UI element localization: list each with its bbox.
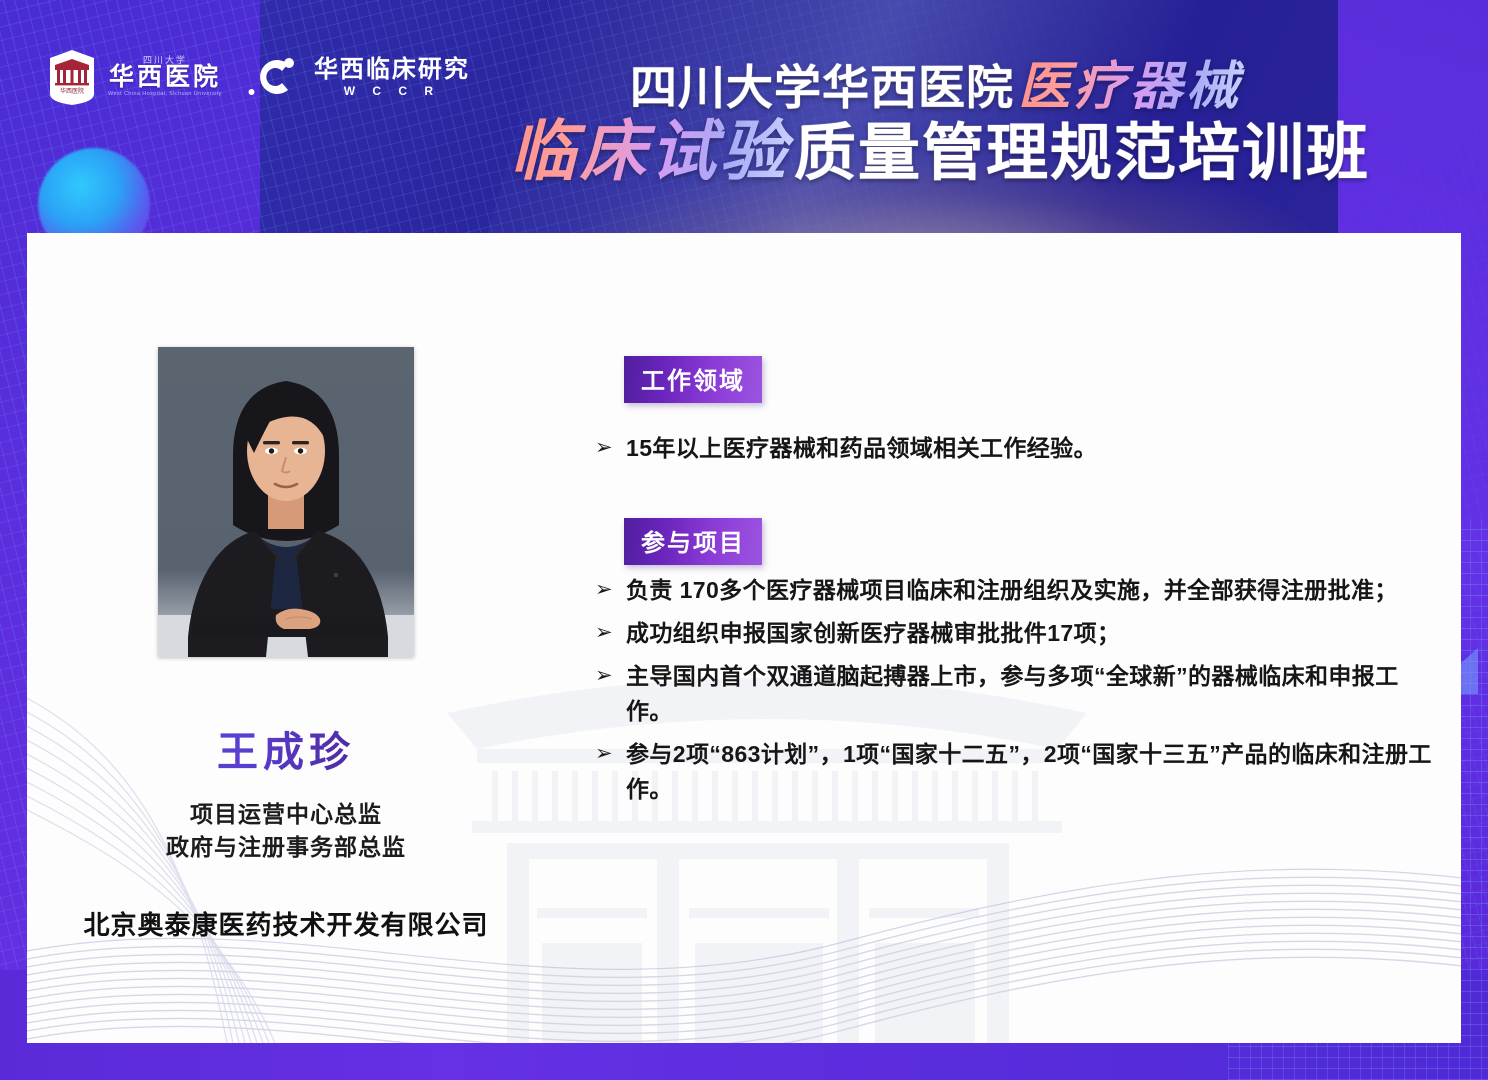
speaker-portrait-illustration	[158, 347, 414, 657]
speaker-photo	[158, 347, 414, 657]
speaker-company: 北京奥泰康医药技术开发有限公司	[48, 905, 524, 942]
event-title-line-2: 临床试验质量管理规范培训班	[418, 116, 1458, 188]
bullet-text: 主导国内首个双通道脑起搏器上市，参与多项“全球新”的器械临床和申报工作。	[626, 659, 1440, 729]
logo-group: 华西医院 四川大学 华西医院 West China Hospital, Sich…	[46, 48, 470, 106]
list-item: ➢ 参与2项“863计划”，1项“国家十二五”，2项“国家十三五”产品的临床和注…	[595, 737, 1440, 807]
list-item: ➢ 15年以上医疗器械和药品领域相关工作经验。	[595, 431, 1435, 466]
bullet-text: 参与2项“863计划”，1项“国家十二五”，2项“国家十三五”产品的临床和注册工…	[626, 737, 1440, 807]
section-badge-projects: 参与项目	[624, 518, 762, 565]
arrow-bullet-icon: ➢	[595, 432, 613, 464]
speaker-details: 工作领域 ➢ 15年以上医疗器械和药品领域相关工作经验。 参与项目 ➢ 负责 1…	[567, 233, 1447, 1043]
work-area-bullet-list: ➢ 15年以上医疗器械和药品领域相关工作经验。	[595, 431, 1435, 466]
logo-hospital-english: West China Hospital, Sichuan University	[108, 92, 222, 98]
wccr-c-mark-icon	[248, 50, 302, 104]
event-title: 四川大学华西医院医疗器械 临床试验质量管理规范培训班	[418, 60, 1458, 188]
projects-bullet-list: ➢ 负责 170多个医疗器械项目临床和注册组织及实施，并全部获得注册批准； ➢ …	[595, 573, 1440, 807]
title-line2-brush: 临床试验	[506, 112, 794, 190]
speaker-roles: 项目运营中心总监 政府与注册事务部总监	[58, 798, 514, 863]
temple-gate-crest-icon: 华西医院	[46, 48, 98, 106]
list-item: ➢ 主导国内首个双通道脑起搏器上市，参与多项“全球新”的器械临床和申报工作。	[595, 659, 1440, 729]
event-title-line-1: 四川大学华西医院医疗器械	[418, 60, 1458, 114]
bullet-text: 15年以上医疗器械和药品领域相关工作经验。	[626, 431, 1435, 466]
title-line1-plain: 四川大学华西医院	[630, 61, 1014, 114]
speaker-name: 王成珍	[58, 718, 514, 778]
speaker-role-2: 政府与注册事务部总监	[58, 831, 514, 864]
logo-west-china-hospital-text: 四川大学 华西医院 West China Hospital, Sichuan U…	[108, 56, 222, 98]
bullet-text: 负责 170多个医疗器械项目临床和注册组织及实施，并全部获得注册批准；	[626, 573, 1440, 608]
bullet-text: 成功组织申报国家创新医疗器械审批批件17项；	[626, 616, 1440, 651]
arrow-bullet-icon: ➢	[595, 738, 613, 770]
arrow-bullet-icon: ➢	[595, 660, 613, 692]
speaker-role-1: 项目运营中心总监	[58, 798, 514, 831]
content-card: 王成珍 项目运营中心总监 政府与注册事务部总监 北京奥泰康医药技术开发有限公司 …	[27, 233, 1461, 1043]
header: 华西医院 四川大学 华西医院 West China Hospital, Sich…	[0, 0, 1488, 233]
logo-west-china-hospital: 华西医院 四川大学 华西医院 West China Hospital, Sich…	[46, 48, 222, 106]
list-item: ➢ 成功组织申报国家创新医疗器械审批批件17项；	[595, 616, 1440, 651]
arrow-bullet-icon: ➢	[595, 617, 613, 649]
slide-root: 华西医院 四川大学 华西医院 West China Hospital, Sich…	[0, 0, 1488, 1080]
section-badge-work-area: 工作领域	[624, 356, 762, 403]
title-line2-plain: 质量管理规范培训班	[794, 119, 1370, 188]
list-item: ➢ 负责 170多个医疗器械项目临床和注册组织及实施，并全部获得注册批准；	[595, 573, 1440, 608]
title-line1-brush: 医疗器械	[1014, 56, 1246, 117]
arrow-bullet-icon: ➢	[595, 574, 613, 606]
logo-university-line: 四川大学	[143, 56, 187, 65]
svg-text:华西医院: 华西医院	[60, 87, 84, 95]
logo-hospital-name: 华西医院	[109, 65, 221, 90]
